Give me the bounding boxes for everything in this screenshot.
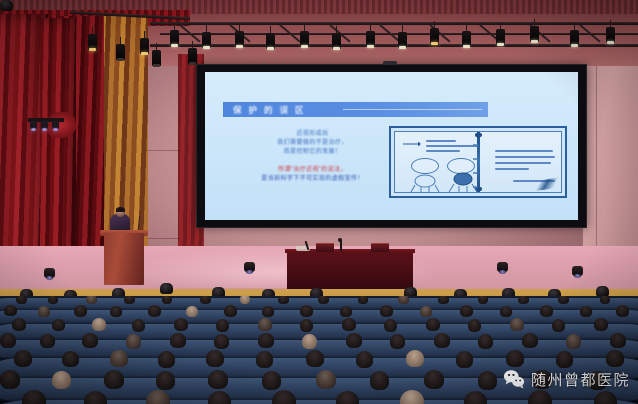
- audience-head: [558, 296, 569, 304]
- audience-head: [206, 350, 224, 367]
- audience-head: [214, 334, 229, 349]
- speaker-head: [116, 207, 125, 217]
- audience-head: [606, 350, 624, 367]
- audience-head: [406, 350, 424, 367]
- slide-body-line: 而是控制它的发展！: [235, 148, 390, 157]
- stage-par-light: [235, 31, 244, 47]
- audience-head: [92, 318, 106, 331]
- notebook-margin-tick: [473, 158, 478, 160]
- wechat-icon: [503, 368, 525, 390]
- footlight-fixture: [160, 283, 173, 294]
- slide-body-line: 我们需要做的不是治疗，: [235, 139, 390, 148]
- notebook-heading-line: [426, 140, 456, 142]
- stage-par-light: [188, 48, 197, 64]
- audience-head: [424, 370, 444, 389]
- audience-head: [174, 318, 188, 331]
- audience-head: [342, 318, 356, 331]
- audience-head: [522, 333, 538, 348]
- audience-head: [158, 351, 175, 368]
- stage-par-light: [140, 38, 149, 54]
- audience-head: [556, 351, 573, 368]
- footlight-fixture: [0, 0, 13, 11]
- spotlight-fixture: [30, 121, 37, 129]
- audience-head: [256, 351, 273, 368]
- audience-head: [346, 333, 362, 348]
- stage-par-light: [152, 50, 161, 66]
- notebook-body-line: [495, 168, 529, 170]
- audience-head: [300, 305, 313, 317]
- slide-title: 保护的误区: [223, 104, 311, 116]
- audience-head: [186, 306, 198, 317]
- moving-head-light: [44, 268, 55, 278]
- audience-head: [384, 319, 397, 332]
- audience-head: [156, 371, 175, 390]
- audience-head: [258, 318, 272, 331]
- watermark: 随州曾都医院: [503, 368, 630, 390]
- audience-head: [0, 370, 20, 389]
- audience-head: [38, 306, 50, 317]
- audience-head: [0, 333, 16, 348]
- moving-head-light: [244, 262, 255, 272]
- audience-head: [506, 350, 524, 367]
- lighting-truss-bar: [150, 44, 638, 47]
- auditorium-lecture-photo: 保护的误区 近视形成后 我们需要做的不是治疗， 而是控制它的发展！ 所谓“治疗近…: [0, 0, 638, 404]
- audience-head: [302, 334, 317, 349]
- stage-par-light: [530, 26, 539, 42]
- table-nameplate: [316, 243, 334, 252]
- audience-head: [278, 296, 289, 304]
- audience-head: [132, 319, 145, 332]
- stage-par-light: [332, 33, 341, 49]
- audience-head: [14, 350, 32, 367]
- sketch-face-right: [445, 172, 479, 194]
- stage-par-light: [606, 27, 615, 43]
- audience-head: [318, 296, 329, 304]
- sketch-face-left: [409, 174, 441, 194]
- led-display-screen: 保护的误区 近视形成后 我们需要做的不是治疗， 而是控制它的发展！ 所谓“治疗近…: [196, 64, 587, 228]
- stage-par-light: [430, 28, 439, 44]
- audience-head: [478, 334, 493, 349]
- audience-head: [82, 333, 98, 348]
- stage-par-light: [570, 30, 579, 46]
- slide-body-text: 近视形成后 我们需要做的不是治疗， 而是控制它的发展！ 所谓“治疗近视”的说法，…: [235, 130, 390, 184]
- spotlight-fixture: [52, 121, 59, 129]
- audience-head: [258, 333, 274, 348]
- slide-highlight-line: 所谓“治疗近视”的说法，: [235, 166, 390, 175]
- audience-head: [510, 318, 524, 331]
- audience-head: [224, 305, 237, 317]
- audience-head: [566, 334, 581, 349]
- audience-head: [594, 318, 608, 331]
- audience-head: [170, 333, 186, 348]
- wall-panel-seam: [596, 66, 597, 246]
- stage-par-light: [116, 44, 125, 60]
- speaker-podium: [104, 233, 144, 285]
- audience-head: [52, 319, 65, 331]
- audience-head: [208, 370, 228, 389]
- head-table: [287, 252, 413, 290]
- audience-head: [110, 306, 122, 317]
- audience-head: [456, 351, 473, 368]
- audience-head: [478, 296, 488, 304]
- audience-head: [398, 296, 409, 304]
- audience-head: [316, 370, 336, 389]
- slide-body-line: 是当前科学下不可实现的虚假宣传！: [235, 175, 390, 184]
- table-nameplate: [371, 243, 389, 252]
- audience-head: [300, 319, 313, 332]
- table-microphone-head: [338, 238, 342, 242]
- audience-head: [340, 306, 352, 317]
- audience-head: [468, 319, 481, 332]
- audience-head: [478, 371, 497, 390]
- stage-par-light: [366, 31, 375, 47]
- notebook-margin-tick: [473, 186, 478, 188]
- stage-par-light: [170, 30, 179, 46]
- audience-head: [358, 296, 368, 304]
- audience-head: [16, 296, 27, 304]
- notebook-body-line: [495, 150, 553, 152]
- audience-head: [434, 333, 450, 348]
- stage-par-light: [496, 29, 505, 45]
- notebook-body-line: [495, 162, 551, 164]
- audience-head: [580, 306, 592, 317]
- audience-head: [86, 296, 97, 304]
- audience-head: [48, 296, 58, 304]
- stage-par-light: [462, 31, 471, 47]
- audience-head: [126, 334, 141, 349]
- audience-head: [74, 305, 87, 317]
- audience-head: [356, 351, 373, 368]
- audience-head: [540, 305, 553, 317]
- stage-par-light: [266, 33, 275, 49]
- audience-head: [600, 296, 610, 304]
- audience-head: [162, 296, 172, 304]
- moving-head-light: [497, 262, 508, 272]
- stage-par-light: [398, 32, 407, 48]
- wall-light-bar: [28, 118, 64, 122]
- audience-head: [200, 296, 211, 304]
- notebook-margin-tick: [473, 172, 478, 174]
- audience-head: [52, 371, 71, 389]
- audience-head: [616, 305, 629, 317]
- arrow-icon: [403, 141, 421, 147]
- audience-head: [552, 319, 565, 332]
- audience-head: [62, 351, 79, 367]
- audience-head: [240, 296, 250, 304]
- audience-head: [460, 305, 473, 317]
- moving-head-light: [572, 266, 583, 276]
- audience-head: [216, 319, 229, 332]
- audience-head: [420, 306, 432, 317]
- audience-head: [380, 305, 393, 317]
- stage-par-light: [300, 31, 309, 47]
- audience-head: [306, 350, 324, 367]
- audience-head: [124, 296, 135, 304]
- spotlight-fixture: [41, 121, 48, 129]
- notebook-binding-clip: [475, 133, 482, 137]
- audience-head: [12, 318, 26, 331]
- audience-head: [110, 350, 128, 367]
- audience-head: [4, 305, 17, 316]
- audience-head: [262, 306, 274, 317]
- audience-head: [390, 334, 405, 349]
- audience-head: [40, 334, 55, 348]
- audience-head: [370, 371, 389, 390]
- audience-head: [438, 296, 449, 304]
- watermark-text: 随州曾都医院: [531, 369, 630, 390]
- notebook-pages: [394, 131, 562, 193]
- audience-head: [104, 370, 124, 389]
- lighting-truss-bar: [150, 22, 638, 25]
- stage-par-light: [88, 34, 97, 50]
- stage-par-light: [202, 32, 211, 48]
- audience-head: [262, 371, 281, 390]
- notebook-body-line: [495, 156, 555, 158]
- sketch-eye-diagram: [411, 158, 439, 174]
- audience-head: [148, 305, 161, 317]
- slide-title-bar: 保护的误区: [223, 102, 488, 117]
- audience-head: [426, 318, 440, 331]
- audience-head: [518, 296, 529, 304]
- audience-head: [500, 306, 512, 317]
- notebook-illustration: [389, 126, 567, 198]
- audience-head: [610, 333, 626, 348]
- slide-body-line: 近视形成后: [235, 130, 390, 139]
- notebook-margin-tick: [473, 144, 478, 146]
- notebook-heading-line: [426, 150, 460, 152]
- notebook-heading-line: [426, 145, 478, 147]
- presentation-slide: 保护的误区 近视形成后 我们需要做的不是治疗， 而是控制它的发展！ 所谓“治疗近…: [205, 72, 578, 220]
